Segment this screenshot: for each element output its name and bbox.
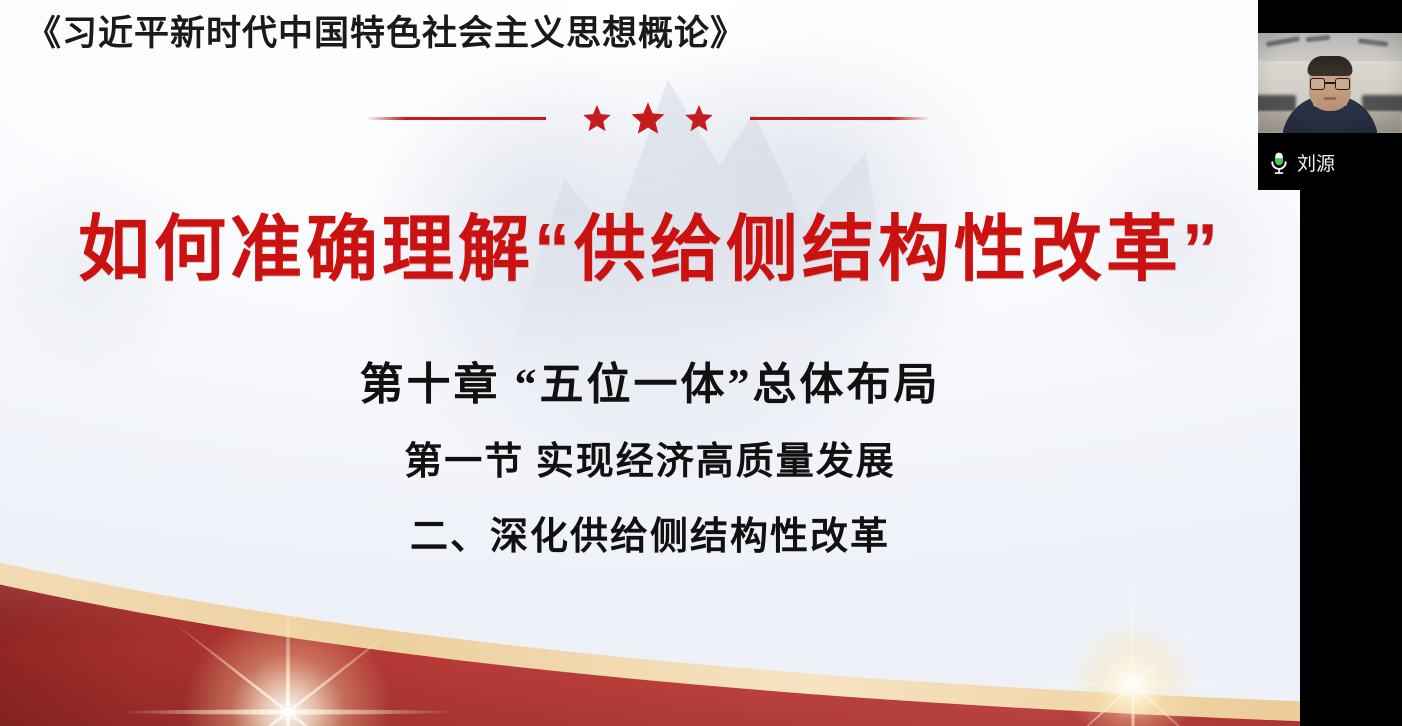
subtitle-section: 第一节 实现经济高质量发展 [0, 430, 1300, 485]
divider-rule-left-icon [366, 117, 546, 120]
participant-video-feed[interactable] [1258, 33, 1402, 133]
star-divider [338, 98, 958, 138]
background-watermark-ridge [470, 40, 900, 370]
lens-flare-icon [108, 532, 468, 726]
video-letterbox-top [1258, 0, 1402, 33]
book-title: 《习近平新时代中国特色社会主义思想概论》 [26, 12, 746, 57]
meeting-screen-share-view: 《习近平新时代中国特色社会主义思想概论》 如何准确理解“供给侧结构性改革” 第十… [0, 0, 1402, 726]
lens-flare-icon [1008, 560, 1258, 726]
star-group [546, 100, 750, 136]
star-icon [630, 100, 666, 136]
microphone-icon[interactable] [1269, 151, 1289, 177]
participant-name-bar: 刘源 [1258, 138, 1402, 190]
video-vignette [1258, 33, 1402, 133]
subtitle-item: 二、深化供给侧结构性改革 [0, 505, 1300, 560]
participant-video-tile[interactable]: 刘源 [1258, 0, 1402, 190]
shared-slide[interactable]: 《习近平新时代中国特色社会主义思想概论》 如何准确理解“供给侧结构性改革” 第十… [0, 0, 1300, 726]
divider-rule-right-icon [750, 117, 930, 120]
participant-name-label: 刘源 [1297, 155, 1335, 174]
subtitle-chapter: 第十章 “五位一体”总体布局 [0, 348, 1300, 412]
star-icon [582, 103, 612, 133]
page-title: 如何准确理解“供给侧结构性改革” [0, 210, 1300, 291]
star-icon [684, 103, 714, 133]
